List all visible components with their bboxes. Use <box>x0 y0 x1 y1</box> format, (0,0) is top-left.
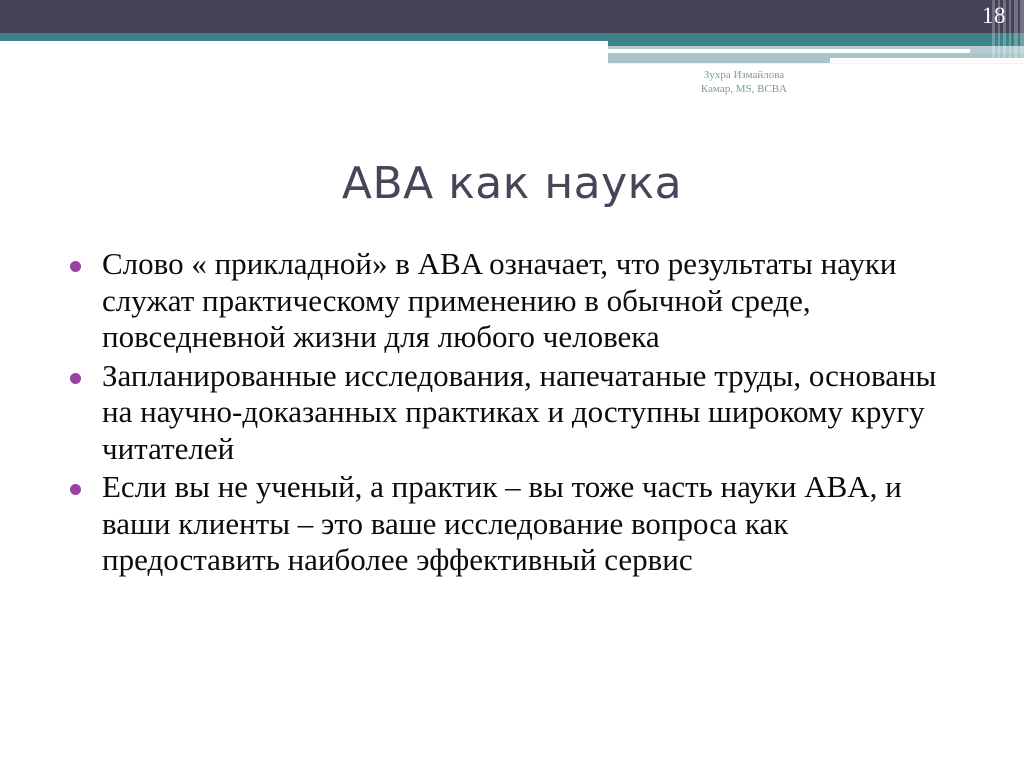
list-item-text: Если вы не ученый, а практик – вы тоже ч… <box>102 469 965 579</box>
header-teal-band <box>0 33 1024 46</box>
bullet-marker-icon <box>70 373 81 384</box>
bullet-marker-icon <box>70 261 81 272</box>
list-item: Слово « прикладной» в ABA означает, что … <box>60 246 965 356</box>
stripe-4 <box>1009 0 1011 63</box>
stripe-5 <box>1014 0 1018 63</box>
header-white-sliver <box>0 49 970 53</box>
stripe-6 <box>1020 0 1024 63</box>
header-hairline <box>608 63 1024 64</box>
header-right-notch <box>830 58 1024 64</box>
author-line-1: Зухра Измайлова <box>609 68 879 82</box>
bullet-marker-icon <box>70 484 81 495</box>
list-item: Запланированные исследования, напечатаны… <box>60 358 965 468</box>
slide-number: 18 <box>982 3 1006 29</box>
presentation-slide: 18 Зухра Измайлова Камар, MS, BCBA ABA к… <box>0 0 1024 767</box>
header-light-band-right <box>608 46 1024 55</box>
bullet-list: Слово « прикладной» в ABA означает, что … <box>60 246 965 581</box>
header-left-notch <box>0 41 608 54</box>
header-dark-band <box>0 0 1024 33</box>
page-title: ABA как наука <box>0 158 1024 209</box>
list-item: Если вы не ученый, а практик – вы тоже ч… <box>60 469 965 579</box>
author-line-2: Камар, MS, BCBA <box>609 82 879 96</box>
header-light-band <box>0 46 1024 54</box>
header-light-band-lower <box>608 53 1024 63</box>
author-credit: Зухра Измайлова Камар, MS, BCBA <box>609 68 879 96</box>
list-item-text: Слово « прикладной» в ABA означает, что … <box>102 246 965 356</box>
list-item-text: Запланированные исследования, напечатаны… <box>102 358 965 468</box>
